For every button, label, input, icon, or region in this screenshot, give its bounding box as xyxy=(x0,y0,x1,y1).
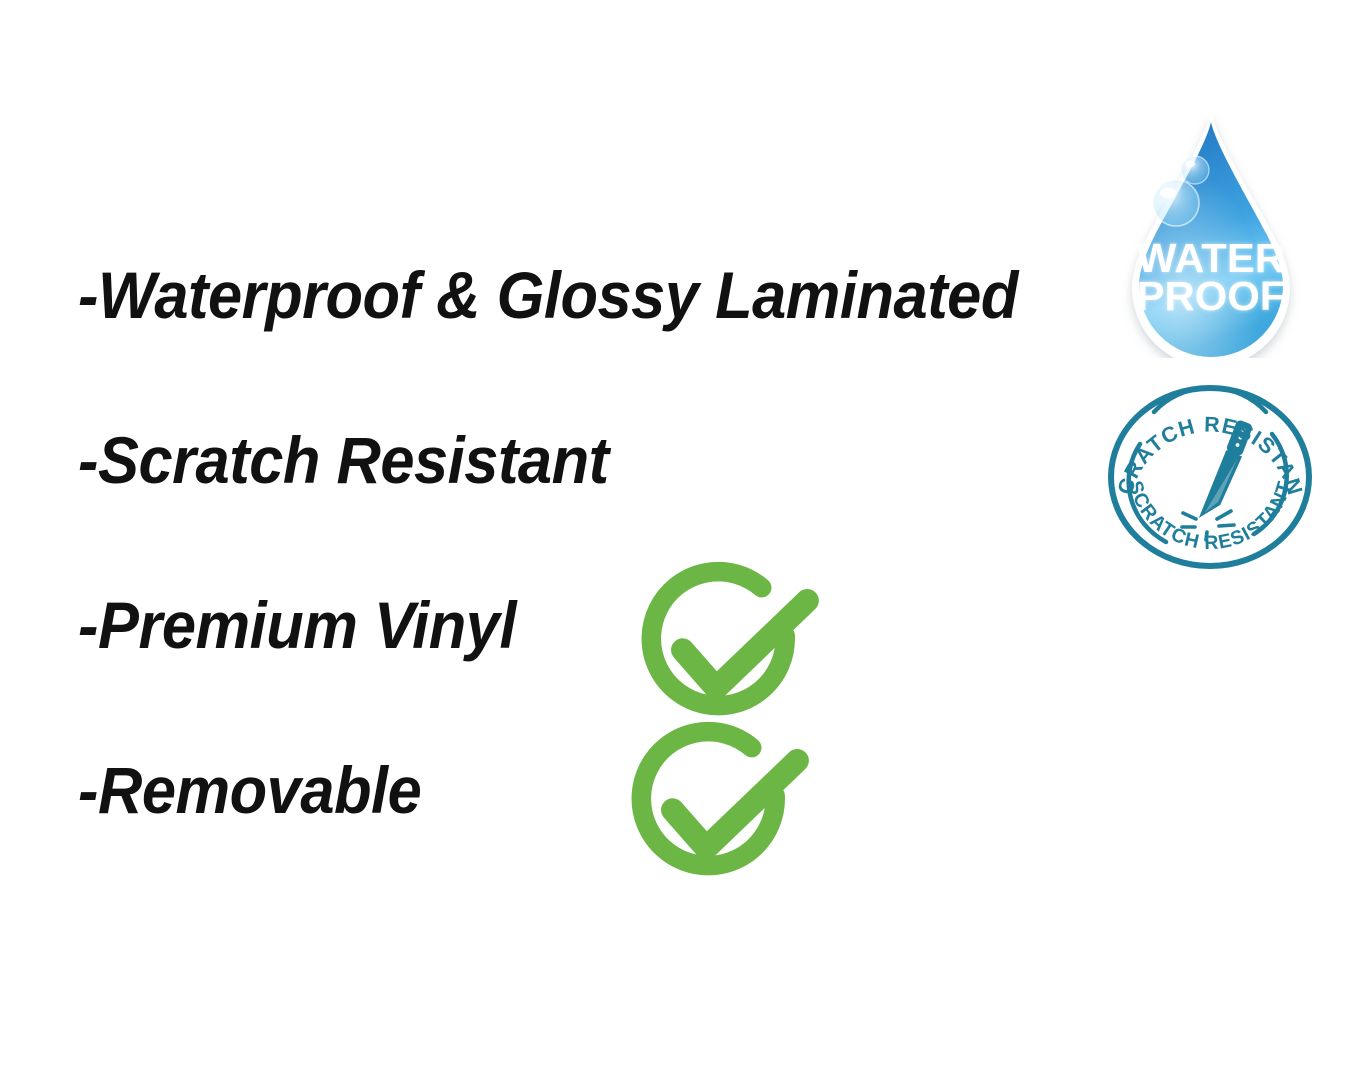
check-circle-icon xyxy=(628,716,814,902)
scratch-badge-text-bottom: SCRATCH RESISTANT xyxy=(1124,478,1296,554)
feature-list: -Waterproof & Glossy Laminated -Scratch … xyxy=(0,0,1100,1080)
feature-item-scratch-resistant: -Scratch Resistant xyxy=(78,427,609,493)
feature-item-premium-vinyl: -Premium Vinyl xyxy=(78,592,516,658)
feature-item-removable: -Removable xyxy=(78,757,421,823)
scratch-resistant-badge: SCRATCH RESISTANT SCRATCH RESISTANT xyxy=(1104,382,1316,572)
product-features-graphic: -Waterproof & Glossy Laminated -Scratch … xyxy=(0,0,1359,1080)
check-circle-icon xyxy=(638,556,824,742)
feature-item-waterproof-glossy-laminated: -Waterproof & Glossy Laminated xyxy=(78,262,1018,328)
waterproof-badge: WATER PROOF xyxy=(1104,108,1318,358)
